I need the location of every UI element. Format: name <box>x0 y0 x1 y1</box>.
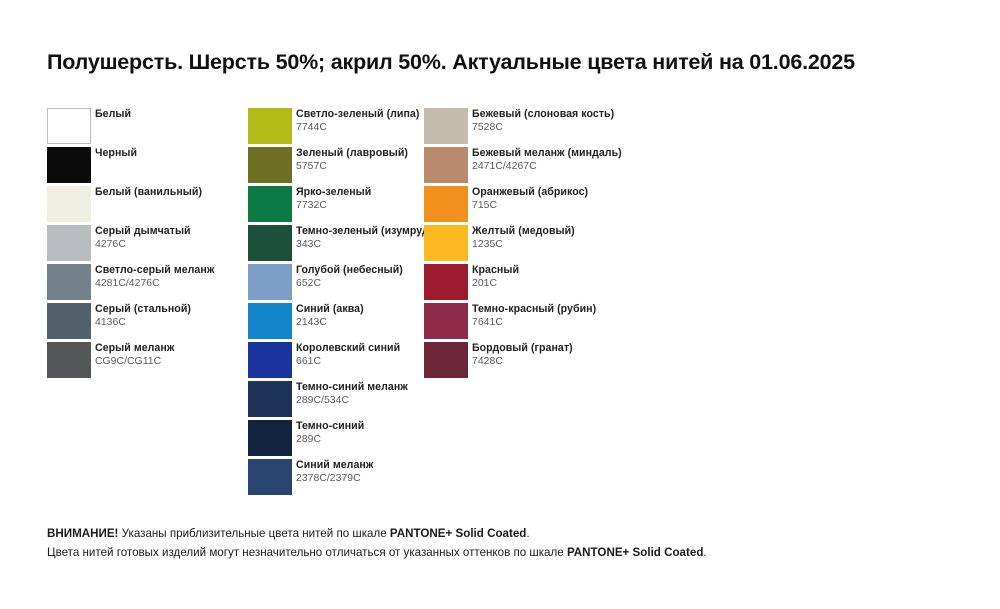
swatch-text: Королевский синий661C <box>296 342 400 367</box>
swatch-row[interactable]: Черный <box>47 147 247 186</box>
footer-line-1-text: Указаны приблизительные цвета нитей по ш… <box>118 527 389 540</box>
swatch-text: Темно-синий меланж289C/534C <box>296 381 408 406</box>
swatch-pantone-code: 1235C <box>472 239 575 250</box>
swatch-pantone-code: 4136C <box>95 317 191 328</box>
swatch-pantone-code: 7641C <box>472 317 596 328</box>
swatch-row[interactable]: Серый дымчатый4276C <box>47 225 247 264</box>
color-swatch <box>248 225 292 261</box>
swatch-name: Серый меланж <box>95 343 174 354</box>
swatch-text: Бежевый меланж (миндаль)2471C/4267C <box>472 147 622 172</box>
swatch-row[interactable]: Синий меланж2378C/2379C <box>248 459 424 498</box>
color-swatch <box>424 264 468 300</box>
swatch-text: Темно-синий289C <box>296 420 364 445</box>
swatch-name: Синий меланж <box>296 460 373 471</box>
swatch-name: Серый дымчатый <box>95 226 191 237</box>
swatch-pantone-code: 652C <box>296 278 403 289</box>
swatch-row[interactable]: Бежевый меланж (миндаль)2471C/4267C <box>424 147 654 186</box>
color-swatch <box>248 459 292 495</box>
swatch-text: Белый <box>95 108 131 120</box>
swatch-pantone-code: CG9C/CG11C <box>95 356 174 367</box>
swatch-row[interactable]: Желтый (медовый)1235C <box>424 225 654 264</box>
swatch-text: Темно-красный (рубин)7641C <box>472 303 596 328</box>
swatch-row[interactable]: Оранжевый (абрикос)715C <box>424 186 654 225</box>
color-swatch <box>424 147 468 183</box>
swatch-name: Зеленый (лавровый) <box>296 148 408 159</box>
swatch-name: Синий (аква) <box>296 304 364 315</box>
swatch-row[interactable]: Голубой (небесный)652C <box>248 264 424 303</box>
swatch-pantone-code: 289C <box>296 434 364 445</box>
color-swatch <box>424 303 468 339</box>
footer-line-1: ВНИМАНИЕ! Указаны приблизительные цвета … <box>47 524 967 543</box>
swatch-row[interactable]: Серый меланжCG9C/CG11C <box>47 342 247 381</box>
swatch-row[interactable]: Королевский синий661C <box>248 342 424 381</box>
swatch-pantone-code: 2471C/4267C <box>472 161 622 172</box>
page-title: Полушерсть. Шерсть 50%; акрил 50%. Актуа… <box>47 50 967 75</box>
color-swatch <box>248 264 292 300</box>
swatch-row[interactable]: Серый (стальной)4136C <box>47 303 247 342</box>
swatch-name: Серый (стальной) <box>95 304 191 315</box>
swatch-text: Серый дымчатый4276C <box>95 225 191 250</box>
swatch-pantone-code: 2143C <box>296 317 364 328</box>
swatch-text: Красный201C <box>472 264 519 289</box>
swatch-pantone-code: 2378C/2379C <box>296 473 373 484</box>
swatch-row[interactable]: Белый (ванильный) <box>47 186 247 225</box>
color-swatch <box>47 108 91 144</box>
swatch-row[interactable]: Темно-красный (рубин)7641C <box>424 303 654 342</box>
color-swatch <box>47 225 91 261</box>
swatch-pantone-code: 343C <box>296 239 432 250</box>
footer-line-2-end: . <box>703 546 706 559</box>
swatch-name: Белый (ванильный) <box>95 187 202 198</box>
swatch-row[interactable]: Синий (аква)2143C <box>248 303 424 342</box>
swatch-name: Темно-зеленый (изумруд) <box>296 226 432 237</box>
swatch-name: Темно-синий меланж <box>296 382 408 393</box>
swatch-row[interactable]: Темно-зеленый (изумруд)343C <box>248 225 424 264</box>
swatch-text: Темно-зеленый (изумруд)343C <box>296 225 432 250</box>
footer-line-2: Цвета нитей готовых изделий могут незнач… <box>47 543 967 562</box>
color-chart-page: Полушерсть. Шерсть 50%; акрил 50%. Актуа… <box>0 0 1000 609</box>
color-swatch <box>47 342 91 378</box>
color-swatch <box>248 303 292 339</box>
swatch-column-neutrals: БелыйЧерныйБелый (ванильный)Серый дымчат… <box>47 108 247 381</box>
swatch-name: Бежевый (слоновая кость) <box>472 109 614 120</box>
swatch-pantone-code: 661C <box>296 356 400 367</box>
footer-brand-2: PANTONE+ Solid Coated <box>567 546 703 559</box>
color-swatch <box>424 186 468 222</box>
swatch-row[interactable]: Темно-синий меланж289C/534C <box>248 381 424 420</box>
color-swatch <box>248 108 292 144</box>
swatch-column-greens-blues: Светло-зеленый (липа)7744CЗеленый (лавро… <box>248 108 424 498</box>
swatch-text: Голубой (небесный)652C <box>296 264 403 289</box>
swatch-text: Бордовый (гранат)7428C <box>472 342 573 367</box>
swatch-pantone-code: 4281C/4276C <box>95 278 214 289</box>
swatch-row[interactable]: Красный201C <box>424 264 654 303</box>
swatch-pantone-code: 289C/534C <box>296 395 408 406</box>
swatch-name: Оранжевый (абрикос) <box>472 187 588 198</box>
swatch-name: Бежевый меланж (миндаль) <box>472 148 622 159</box>
color-swatch <box>47 147 91 183</box>
swatch-text: Синий (аква)2143C <box>296 303 364 328</box>
swatch-text: Светло-серый меланж4281C/4276C <box>95 264 214 289</box>
swatch-pantone-code: 7528C <box>472 122 614 133</box>
swatch-text: Светло-зеленый (липа)7744C <box>296 108 419 133</box>
swatch-row[interactable]: Светло-серый меланж4281C/4276C <box>47 264 247 303</box>
swatch-pantone-code: 201C <box>472 278 519 289</box>
swatch-name: Светло-зеленый (липа) <box>296 109 419 120</box>
swatch-row[interactable]: Белый <box>47 108 247 147</box>
swatch-name: Королевский синий <box>296 343 400 354</box>
swatch-text: Зеленый (лавровый)5757C <box>296 147 408 172</box>
swatch-text: Белый (ванильный) <box>95 186 202 198</box>
swatch-name: Голубой (небесный) <box>296 265 403 276</box>
color-swatch <box>47 186 91 222</box>
swatch-pantone-code: 715C <box>472 200 588 211</box>
swatch-row[interactable]: Бежевый (слоновая кость)7528C <box>424 108 654 147</box>
color-swatch <box>248 381 292 417</box>
swatch-row[interactable]: Зеленый (лавровый)5757C <box>248 147 424 186</box>
color-swatch <box>248 186 292 222</box>
swatch-name: Ярко-зеленый <box>296 187 371 198</box>
color-swatch <box>424 108 468 144</box>
color-swatch <box>47 264 91 300</box>
swatch-text: Бежевый (слоновая кость)7528C <box>472 108 614 133</box>
swatch-text: Оранжевый (абрикос)715C <box>472 186 588 211</box>
footer-note: ВНИМАНИЕ! Указаны приблизительные цвета … <box>47 524 967 562</box>
swatch-name: Темно-красный (рубин) <box>472 304 596 315</box>
swatch-pantone-code: 4276C <box>95 239 191 250</box>
swatch-columns: БелыйЧерныйБелый (ванильный)Серый дымчат… <box>0 108 1000 508</box>
swatch-text: Черный <box>95 147 137 159</box>
swatch-name: Красный <box>472 265 519 276</box>
color-swatch <box>47 303 91 339</box>
swatch-name: Светло-серый меланж <box>95 265 214 276</box>
swatch-row[interactable]: Бордовый (гранат)7428C <box>424 342 654 381</box>
color-swatch <box>248 147 292 183</box>
swatch-column-warm-reds: Бежевый (слоновая кость)7528CБежевый мел… <box>424 108 654 381</box>
color-swatch <box>248 342 292 378</box>
swatch-row[interactable]: Светло-зеленый (липа)7744C <box>248 108 424 147</box>
swatch-row[interactable]: Темно-синий289C <box>248 420 424 459</box>
swatch-pantone-code: 7732C <box>296 200 371 211</box>
footer-line-2-text: Цвета нитей готовых изделий могут незнач… <box>47 546 567 559</box>
swatch-text: Ярко-зеленый7732C <box>296 186 371 211</box>
swatch-name: Черный <box>95 148 137 159</box>
footer-attention-label: ВНИМАНИЕ! <box>47 527 118 540</box>
swatch-text: Желтый (медовый)1235C <box>472 225 575 250</box>
footer-line-1-end: . <box>526 527 529 540</box>
swatch-name: Темно-синий <box>296 421 364 432</box>
swatch-pantone-code: 7744C <box>296 122 419 133</box>
swatch-pantone-code: 7428C <box>472 356 573 367</box>
swatch-name: Желтый (медовый) <box>472 226 575 237</box>
swatch-pantone-code: 5757C <box>296 161 408 172</box>
swatch-name: Белый <box>95 109 131 120</box>
swatch-row[interactable]: Ярко-зеленый7732C <box>248 186 424 225</box>
swatch-text: Серый (стальной)4136C <box>95 303 191 328</box>
color-swatch <box>424 225 468 261</box>
color-swatch <box>424 342 468 378</box>
swatch-text: Синий меланж2378C/2379C <box>296 459 373 484</box>
footer-brand-1: PANTONE+ Solid Coated <box>390 527 526 540</box>
color-swatch <box>248 420 292 456</box>
swatch-name: Бордовый (гранат) <box>472 343 573 354</box>
swatch-text: Серый меланжCG9C/CG11C <box>95 342 174 367</box>
